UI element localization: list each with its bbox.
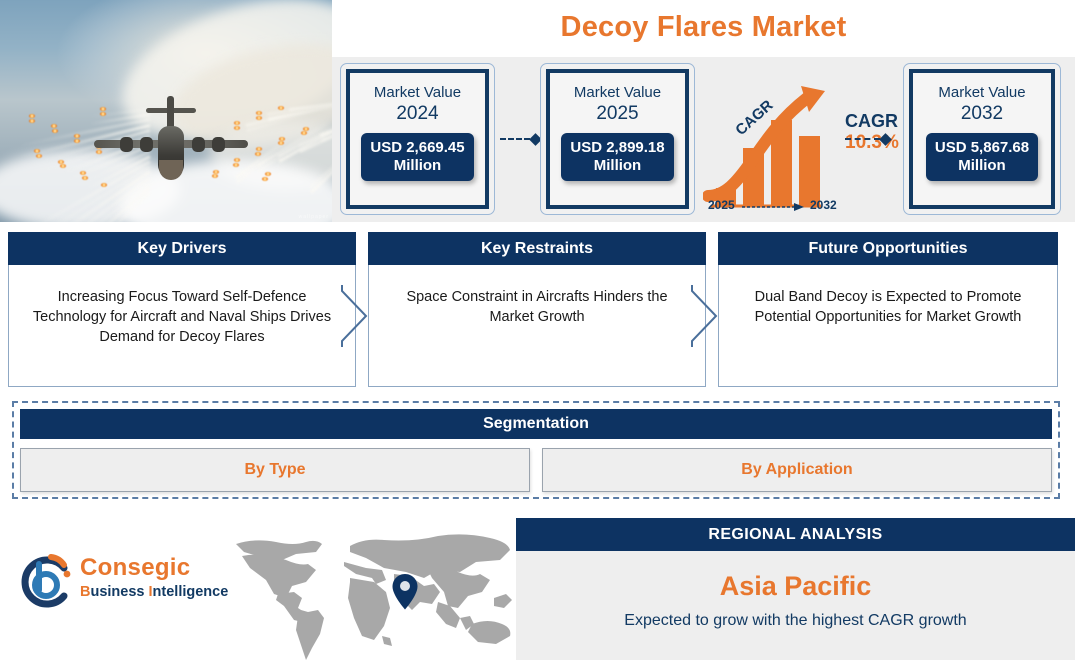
card-year: 2032 <box>961 102 1003 126</box>
region-subtitle: Expected to grow with the highest CAGR g… <box>516 612 1075 630</box>
cagr-label: CAGR <box>845 112 905 130</box>
cagr-value-block: CAGR 10.3% <box>845 112 905 154</box>
aircraft-engine <box>120 137 133 152</box>
panel-key-restraints: Key Restraints Space Constraint in Aircr… <box>368 232 706 387</box>
segment-by-type[interactable]: By Type <box>20 448 530 492</box>
card-label: Market Value <box>374 84 461 101</box>
connector-cagr-to-2032 <box>845 138 890 140</box>
panel-heading: Key Drivers <box>8 232 356 265</box>
panel-future-opportunities: Future Opportunities Dual Band Decoy is … <box>718 232 1058 387</box>
card-unit: Million <box>394 157 442 174</box>
region-name: Asia Pacific <box>516 571 1075 602</box>
cagr-end-year: 2032 <box>810 198 837 212</box>
aircraft-engine <box>192 137 205 152</box>
page-title: Decoy Flares Market <box>332 4 1075 50</box>
card-label: Market Value <box>938 84 1025 101</box>
chevron-right-icon <box>690 285 718 347</box>
infographic-root: wallpaper Decoy Flares Market Market Val… <box>0 0 1075 660</box>
regional-analysis-panel: REGIONAL ANALYSIS Asia Pacific Expected … <box>516 518 1075 660</box>
logo-wordmark: Consegic Business Intelligence <box>80 556 228 600</box>
market-value-card-2025: Market Value 2025 USD 2,899.18 Million <box>540 63 695 215</box>
aircraft-engine <box>140 137 153 152</box>
segmentation-section: Segmentation By Type By Application <box>12 401 1060 499</box>
card-label: Market Value <box>574 84 661 101</box>
logo-company-name: Consegic <box>80 556 228 580</box>
logo-tagline-usiness: usiness <box>90 584 148 600</box>
card-value: USD 2,669.45 <box>370 139 464 156</box>
cagr-value: 10.3% <box>845 132 905 154</box>
card-value-badge: USD 2,899.18 Million <box>561 133 673 181</box>
aircraft-nose <box>159 160 183 180</box>
aircraft-silhouette <box>96 110 246 182</box>
panel-heading: Future Opportunities <box>718 232 1058 265</box>
card-value-badge: USD 5,867.68 Million <box>926 133 1038 181</box>
segment-by-application[interactable]: By Application <box>542 448 1052 492</box>
card-year: 2024 <box>396 102 438 126</box>
cagr-start-year: 2025 <box>708 198 735 212</box>
card-value-badge: USD 2,669.45 Million <box>361 133 473 181</box>
chevron-right-icon <box>340 285 368 347</box>
card-year: 2025 <box>596 102 638 126</box>
segmentation-heading: Segmentation <box>20 409 1052 439</box>
logo-tagline-ntelligence: ntelligence <box>153 584 229 600</box>
card-unit: Million <box>958 157 1006 174</box>
logo-tagline: Business Intelligence <box>80 585 228 600</box>
panel-key-drivers: Key Drivers Increasing Focus Toward Self… <box>8 232 356 387</box>
card-value: USD 2,899.18 <box>570 139 664 156</box>
panel-text: Dual Band Decoy is Expected to Promote P… <box>733 287 1043 327</box>
consegic-logo-icon <box>17 552 75 610</box>
photo-watermark: wallpaper <box>299 214 329 220</box>
card-unit: Million <box>594 157 642 174</box>
world-map-graphic <box>232 532 514 660</box>
market-value-card-2024: Market Value 2024 USD 2,669.45 Million <box>340 63 495 215</box>
connector-2024-to-2025 <box>500 138 540 140</box>
logo-tagline-b: B <box>80 584 90 600</box>
card-value: USD 5,867.68 <box>935 139 1029 156</box>
hero-aircraft-photo: wallpaper <box>0 0 332 222</box>
panel-heading: Key Restraints <box>368 232 706 265</box>
market-value-card-2032: Market Value 2032 USD 5,867.68 Million <box>903 63 1061 215</box>
cagr-year-arrow-icon <box>742 203 806 211</box>
cagr-bar-chart-icon: CAGR <box>703 78 848 213</box>
panel-text: Increasing Focus Toward Self-Defence Tec… <box>23 287 341 347</box>
regional-analysis-heading: REGIONAL ANALYSIS <box>516 518 1075 551</box>
aircraft-engine <box>212 137 225 152</box>
panel-text: Space Constraint in Aircrafts Hinders th… <box>383 287 691 327</box>
company-logo: Consegic Business Intelligence <box>12 548 242 614</box>
